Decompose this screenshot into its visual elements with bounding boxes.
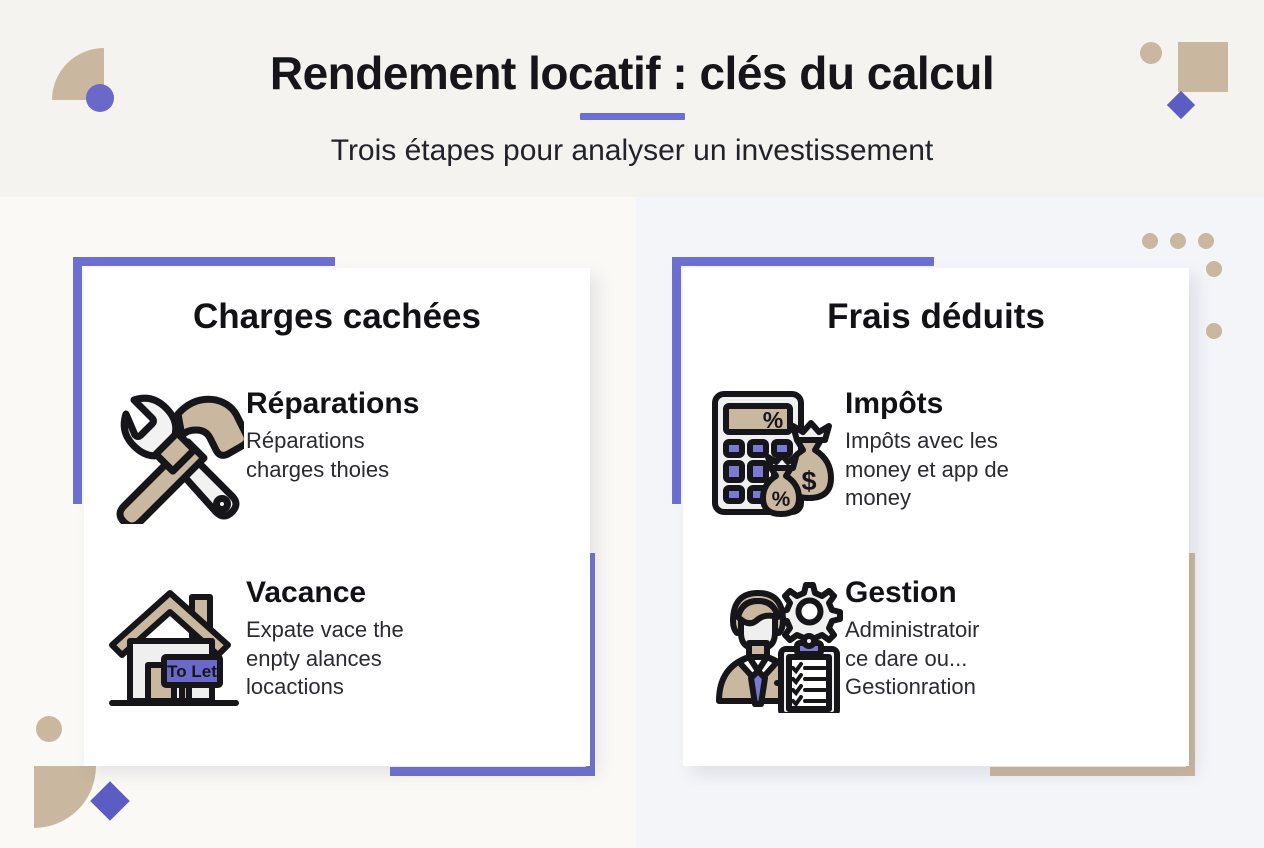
- svg-text:%: %: [772, 488, 791, 511]
- circle-dot-icon: [86, 84, 114, 112]
- list-item-text: Impôts Impôts avec les money et app de m…: [845, 384, 1009, 512]
- card-title: Frais déduits: [683, 297, 1189, 337]
- desc-line: Gestionration: [845, 673, 979, 701]
- list-item-description: Expate vace the enpty alances locactions: [246, 616, 404, 700]
- page-subtitle: Trois étapes pour analyser un investisse…: [0, 134, 1264, 168]
- desc-line: money: [845, 484, 1009, 512]
- list-item-heading: Vacance: [246, 577, 404, 609]
- circle-dot-icon: [1206, 323, 1222, 339]
- card-body: Frais déduits: [683, 268, 1189, 766]
- house-to-let-icon: To Let: [106, 573, 246, 713]
- card-body: Charges cachées: [84, 268, 590, 766]
- desc-line: ce dare ou...: [845, 645, 979, 673]
- page-title: Rendement locatif : clés du calcul: [0, 46, 1264, 100]
- desc-line: Administratoir: [845, 616, 979, 644]
- list-item[interactable]: Gestion Administratoir ce dare ou... Ges…: [705, 573, 1175, 713]
- title-underline-accent: [580, 113, 685, 120]
- desc-line: Expate vace the: [246, 616, 404, 644]
- header-band: Rendement locatif : clés du calcul Trois…: [0, 0, 1264, 197]
- manager-gear-clipboard-icon: [705, 573, 845, 713]
- svg-text:%: %: [763, 407, 783, 433]
- list-item-description: Réparations charges thoies: [246, 427, 419, 483]
- square-icon: [1178, 42, 1228, 92]
- calculator-money-icon: % $ %: [705, 384, 845, 526]
- list-item-description: Administratoir ce dare ou... Gestionrati…: [845, 616, 979, 700]
- desc-line: Impôts avec les: [845, 427, 1009, 455]
- desc-line: Réparations: [246, 427, 419, 455]
- circle-dot-icon: [1206, 261, 1222, 277]
- circle-dot-icon: [1170, 233, 1186, 249]
- list-item-text: Vacance Expate vace the enpty alances lo…: [246, 573, 404, 701]
- desc-line: enpty alances: [246, 645, 404, 673]
- list-item-heading: Impôts: [845, 388, 1009, 420]
- desc-line: locactions: [246, 673, 404, 701]
- card-title: Charges cachées: [84, 297, 590, 337]
- circle-dot-icon: [1142, 233, 1158, 249]
- list-item-heading: Gestion: [845, 577, 979, 609]
- svg-text:To Let: To Let: [167, 662, 217, 681]
- wrench-hammer-icon: [106, 384, 246, 524]
- svg-text:$: $: [801, 466, 816, 496]
- list-item[interactable]: Réparations Réparations charges thoies: [106, 384, 576, 524]
- circle-dot-icon: [1198, 233, 1214, 249]
- infographic-canvas: Rendement locatif : clés du calcul Trois…: [0, 0, 1264, 848]
- list-item[interactable]: To Let Vacance Expate vace the enpty ala…: [106, 573, 576, 713]
- desc-line: charges thoies: [246, 456, 419, 484]
- desc-line: money et app de: [845, 456, 1009, 484]
- list-item-text: Gestion Administratoir ce dare ou... Ges…: [845, 573, 979, 701]
- circle-dot-icon: [1140, 42, 1162, 64]
- list-item[interactable]: % $ % Impôts Impôts avec les money et ap…: [705, 384, 1175, 526]
- circle-dot-icon: [36, 716, 62, 742]
- list-item-description: Impôts avec les money et app de money: [845, 427, 1009, 511]
- list-item-text: Réparations Réparations charges thoies: [246, 384, 419, 484]
- list-item-heading: Réparations: [246, 388, 419, 420]
